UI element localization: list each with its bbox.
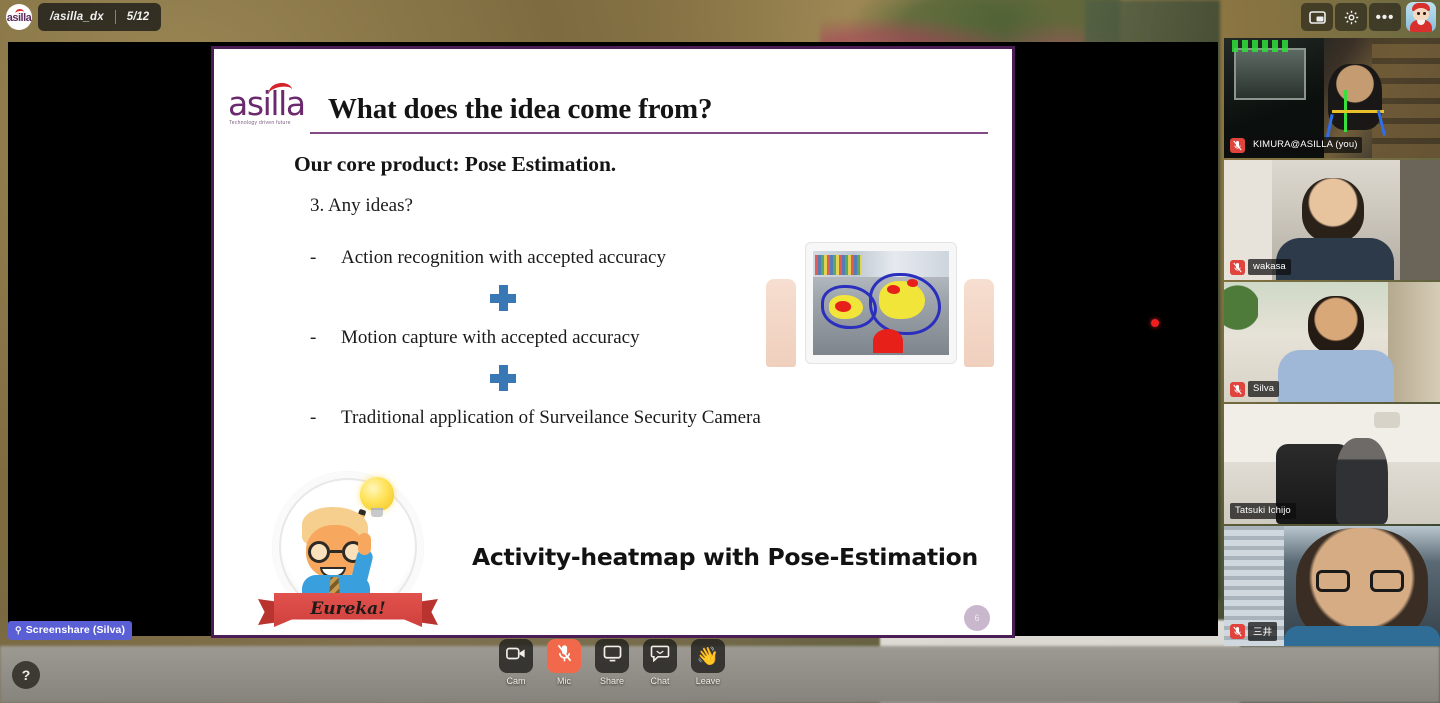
top-bar-actions: ••• bbox=[1301, 3, 1436, 31]
tile-person bbox=[1328, 64, 1382, 130]
pin-icon: ⚲ bbox=[15, 625, 22, 636]
eureka-illustration: Eureka! bbox=[258, 463, 438, 638]
mic-button-box bbox=[547, 639, 581, 673]
mic-off-icon bbox=[556, 644, 573, 668]
chat-button[interactable]: Chat bbox=[642, 639, 678, 686]
more-options-button[interactable]: ••• bbox=[1369, 3, 1401, 31]
gear-icon bbox=[1343, 9, 1360, 26]
share-button-label: Share bbox=[600, 676, 624, 686]
tile-person-head bbox=[1302, 178, 1364, 242]
slide-question: 3. Any ideas? bbox=[310, 195, 986, 217]
heatmap-hot-zone bbox=[887, 285, 900, 294]
mic-button[interactable]: Mic bbox=[546, 639, 582, 686]
top-bar: asilla /asilla_dx 5/12 bbox=[0, 0, 1440, 34]
list-item: - Traditional application of Surveilance… bbox=[310, 407, 986, 429]
plus-separator bbox=[310, 365, 986, 391]
camera-icon bbox=[506, 646, 526, 666]
glasses-lens-right bbox=[1370, 570, 1404, 592]
slide-copyright: copyright© Asilla, Inc. bbox=[226, 634, 297, 638]
share-button[interactable]: Share bbox=[594, 639, 630, 686]
video-call-window: asilla /asilla_dx 5/12 bbox=[0, 0, 1440, 703]
settings-button[interactable] bbox=[1335, 3, 1367, 31]
participant-name-badge: Silva bbox=[1230, 381, 1279, 397]
tile-person-head bbox=[1308, 296, 1364, 354]
bullet-text: Motion capture with accepted accuracy bbox=[341, 327, 640, 349]
glasses-lens-left bbox=[308, 541, 330, 563]
participant-filmstrip: KIMURA@ASILLA (you) wakasa bbox=[1224, 38, 1440, 646]
slide-conclusion: Activity-heatmap with Pose-Estimation bbox=[472, 543, 978, 571]
waving-hand-icon: 👋 bbox=[697, 647, 719, 665]
room-logo: asilla bbox=[6, 4, 32, 30]
asilla-logo: asilla Technology driven future bbox=[228, 83, 314, 129]
pose-overlay-text bbox=[1232, 40, 1292, 52]
tile-plant bbox=[1224, 282, 1258, 346]
tile-background-right bbox=[1388, 282, 1440, 402]
glasses-bridge bbox=[330, 550, 342, 553]
mic-off-icon bbox=[1230, 382, 1245, 397]
participant-name-badge: Tatsuki Ichijo bbox=[1230, 503, 1296, 519]
bullet-text: Action recognition with accepted accurac… bbox=[341, 247, 666, 269]
help-button-label: ? bbox=[22, 667, 31, 683]
slide-title: What does the idea come from? bbox=[328, 95, 712, 129]
participant-name: KIMURA@ASILLA (you) bbox=[1248, 137, 1362, 153]
heatmap-hot-zone bbox=[873, 329, 903, 353]
hand-left bbox=[766, 279, 796, 367]
participant-tile-mitsui[interactable]: 三井 bbox=[1224, 526, 1440, 646]
tile-person-torso bbox=[1276, 238, 1394, 280]
chat-icon bbox=[650, 645, 670, 667]
participant-tile-tatsuki-ichijo[interactable]: Tatsuki Ichijo bbox=[1224, 404, 1440, 524]
share-button-box bbox=[595, 639, 629, 673]
chat-button-label: Chat bbox=[650, 676, 669, 686]
eureka-banner-text: Eureka! bbox=[258, 599, 438, 619]
character-finger bbox=[358, 533, 371, 555]
participant-tile-kimura[interactable]: KIMURA@ASILLA (you) bbox=[1224, 38, 1440, 158]
lightbulb-base bbox=[371, 508, 383, 517]
room-info-pill[interactable]: /asilla_dx 5/12 bbox=[38, 3, 161, 31]
screenshare-label-text: Screenshare (Silva) bbox=[26, 624, 125, 636]
picture-in-picture-icon bbox=[1309, 10, 1326, 25]
shared-screen-region[interactable]: asilla Technology driven future What doe… bbox=[8, 42, 1218, 636]
hand-right bbox=[964, 279, 994, 367]
tile-person bbox=[1336, 438, 1388, 524]
tablet-heatmap-figure bbox=[766, 239, 994, 367]
slide-header: asilla Technology driven future What doe… bbox=[228, 63, 988, 129]
leave-button-label: Leave bbox=[696, 676, 721, 686]
participant-name-badge: KIMURA@ASILLA (you) bbox=[1230, 137, 1362, 153]
heatmap-hot-zone bbox=[907, 279, 918, 287]
more-options-icon: ••• bbox=[1376, 10, 1395, 25]
room-slug: /asilla_dx bbox=[50, 11, 104, 23]
eureka-ribbon: Eureka! bbox=[258, 589, 438, 637]
leave-button-box: 👋 bbox=[691, 639, 725, 673]
tablet-frame bbox=[806, 243, 956, 363]
chat-button-box bbox=[643, 639, 677, 673]
asilla-logo-word: asilla bbox=[228, 87, 305, 120]
screenshare-label: ⚲ Screenshare (Silva) bbox=[8, 621, 132, 640]
help-button[interactable]: ? bbox=[12, 661, 40, 689]
tile-shelving bbox=[1372, 38, 1440, 158]
cam-button[interactable]: Cam bbox=[498, 639, 534, 686]
mic-off-icon bbox=[1230, 138, 1245, 153]
store-bottles bbox=[815, 255, 861, 275]
heatmap-hot-zone bbox=[835, 301, 851, 312]
presentation-slide: asilla Technology driven future What doe… bbox=[211, 46, 1015, 638]
participant-count: 5/12 bbox=[127, 11, 149, 23]
glasses-lens-left bbox=[1316, 570, 1350, 592]
lightbulb-glass bbox=[360, 477, 394, 511]
tile-person-torso bbox=[1278, 350, 1394, 402]
asilla-logo-tagline: Technology driven future bbox=[229, 120, 291, 126]
tile-lamp bbox=[1374, 412, 1400, 428]
participant-name: Tatsuki Ichijo bbox=[1230, 503, 1296, 519]
divider bbox=[115, 10, 116, 24]
mic-off-icon bbox=[1230, 624, 1245, 639]
participant-name: wakasa bbox=[1248, 259, 1291, 275]
participant-name-badge: wakasa bbox=[1230, 259, 1291, 275]
cam-button-box bbox=[499, 639, 533, 673]
picture-in-picture-button[interactable] bbox=[1301, 3, 1333, 31]
bullet-text: Traditional application of Surveilance S… bbox=[341, 407, 761, 429]
heatmap-warm-zone bbox=[879, 281, 925, 319]
mic-button-label: Mic bbox=[557, 676, 571, 686]
plus-icon bbox=[490, 285, 516, 311]
bullet-marker: - bbox=[310, 247, 319, 269]
slide-page-badge: 6 bbox=[964, 605, 990, 631]
mic-off-icon bbox=[1230, 260, 1245, 275]
participant-name: Silva bbox=[1248, 381, 1279, 397]
slide-subtitle: Our core product: Pose Estimation. bbox=[294, 152, 986, 177]
tile-window bbox=[1234, 48, 1306, 100]
remote-pointer bbox=[1151, 319, 1159, 327]
monitor-icon bbox=[603, 645, 622, 667]
bullet-marker: - bbox=[310, 327, 319, 349]
tablet-screen bbox=[813, 251, 949, 355]
room-logo-text: asilla bbox=[7, 12, 32, 24]
avatar[interactable] bbox=[1406, 2, 1436, 32]
cam-button-label: Cam bbox=[506, 676, 525, 686]
leave-button[interactable]: 👋 Leave bbox=[690, 639, 726, 686]
bullet-marker: - bbox=[310, 407, 319, 429]
participant-tile-silva[interactable]: Silva bbox=[1224, 282, 1440, 402]
participant-tile-wakasa[interactable]: wakasa bbox=[1224, 160, 1440, 280]
call-controls: Cam Mic bbox=[0, 639, 1440, 699]
avatar-eye-left bbox=[1417, 12, 1420, 15]
avatar-eye-right bbox=[1423, 12, 1426, 15]
tile-background-right bbox=[1400, 160, 1440, 280]
plus-icon bbox=[490, 365, 516, 391]
